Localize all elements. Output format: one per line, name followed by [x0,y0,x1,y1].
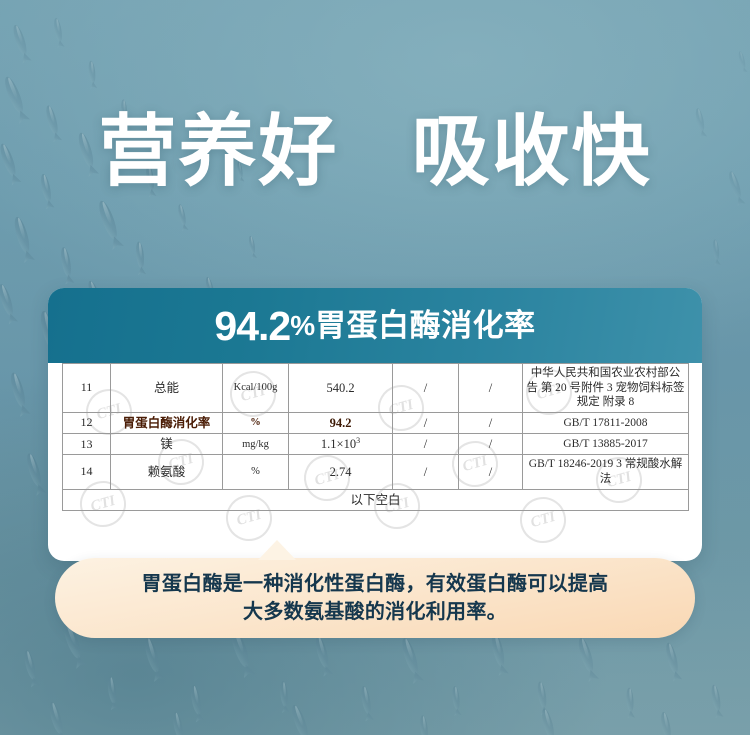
cell-name: 镁 [111,434,223,455]
cell-slash-1: / [393,364,459,413]
cell-value-exponent: 3 [356,436,360,445]
blank-note-cell: 以下空白 [63,489,689,510]
cell-unit: % [223,413,289,434]
cell-unit: mg/kg [223,434,289,455]
cell-no: 14 [63,455,111,489]
cell-slash-1: / [393,434,459,455]
cell-name: 赖氨酸 [111,455,223,489]
caption-text: 胃蛋白酶是一种消化性蛋白酶，有效蛋白酶可以提高 大多数氨基酸的消化利用率。 [142,570,609,627]
cell-value-exp: 1.1×103 [289,434,393,455]
cell-no: 11 [63,364,111,413]
cell-standard: 中华人民共和国农业农村部公告 第 20 号附件 3 宠物饲料标签规定 附录 8 [523,364,689,413]
table-row-highlighted: 12 胃蛋白酶消化率 % 94.2 / / GB/T 17811-2008 [63,413,689,434]
table-row: 14 赖氨酸 % 2.74 / / GB/T 18246-2019 3 常规酸水… [63,455,689,489]
cell-unit: Kcal/100g [223,364,289,413]
cell-value: 94.2 [289,413,393,434]
table-row: 11 总能 Kcal/100g 540.2 / / 中华人民共和国农业农村部公告… [63,364,689,413]
cell-name: 总能 [111,364,223,413]
page-title: 营养好 吸收快 [0,112,750,190]
cell-slash-2: / [459,413,523,434]
banner-percent-sign: % [290,312,315,340]
cell-slash-2: / [459,364,523,413]
table-body: 11 总能 Kcal/100g 540.2 / / 中华人民共和国农业农村部公告… [63,364,689,511]
cell-standard: GB/T 18246-2019 3 常规酸水解法 [523,455,689,489]
cell-standard: GB/T 17811-2008 [523,413,689,434]
spec-card: 94.2 % 胃蛋白酶消化率 CTI CTI CTI CTI CTI CTI C… [48,288,702,561]
caption-line-2: 大多数氨基酸的消化利用率。 [243,601,507,623]
headline-right: 吸收快 [412,107,652,195]
nutrition-spec-table: 11 总能 Kcal/100g 540.2 / / 中华人民共和国农业农村部公告… [62,363,689,511]
cell-slash-1: / [393,413,459,434]
table-row-blank-note: 以下空白 [63,489,689,510]
caption-bubble: 胃蛋白酶是一种消化性蛋白酶，有效蛋白酶可以提高 大多数氨基酸的消化利用率。 [55,558,695,638]
cell-standard: GB/T 13885-2017 [523,434,689,455]
table-row: 13 镁 mg/kg 1.1×103 / / GB/T 13885-2017 [63,434,689,455]
cell-unit: % [223,455,289,489]
cell-value: 540.2 [289,364,393,413]
cell-slash-1: / [393,455,459,489]
cell-value-mantissa: 1.1×10 [321,437,356,451]
cell-slash-2: / [459,455,523,489]
spec-table-container: CTI CTI CTI CTI CTI CTI CTI CTI CTI CTI … [48,363,702,511]
cell-no: 12 [63,413,111,434]
banner-percentage-value: 94.2 [214,306,290,347]
caption-pointer-icon [258,540,296,560]
banner-label: 胃蛋白酶消化率 [315,310,536,341]
cell-name: 胃蛋白酶消化率 [111,413,223,434]
cell-value: 2.74 [289,455,393,489]
cell-no: 13 [63,434,111,455]
cell-slash-2: / [459,434,523,455]
caption-line-1: 胃蛋白酶是一种消化性蛋白酶，有效蛋白酶可以提高 [142,573,609,595]
headline-left: 营养好 [98,107,338,195]
digestibility-banner: 94.2 % 胃蛋白酶消化率 [48,288,702,363]
